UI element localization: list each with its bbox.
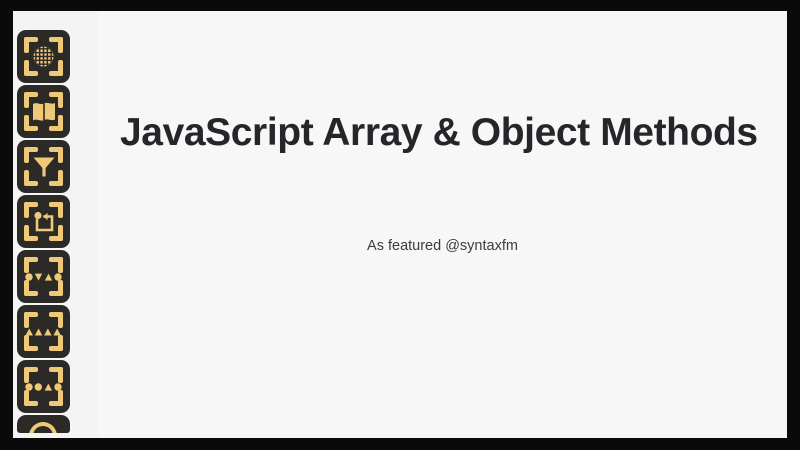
bracket-reduce-loop-icon (17, 195, 70, 248)
sidebar-item-map-grid[interactable] (17, 30, 70, 83)
sidebar-item-map[interactable] (17, 85, 70, 138)
bracket-grid-circle-icon (17, 30, 70, 83)
page-title: JavaScript Array & Object Methods (120, 111, 780, 155)
sidebar-item-sort[interactable] (17, 250, 70, 303)
slide-canvas: JavaScript Array & Object Methods As fea… (13, 11, 787, 438)
slide-frame: JavaScript Array & Object Methods As fea… (0, 0, 800, 450)
sidebar-item-reduce[interactable] (17, 195, 70, 248)
slide-subtitle: As featured @syntaxfm (98, 238, 787, 254)
sidebar-item-every[interactable] (17, 305, 70, 358)
bracket-four-triangles-icon (17, 305, 70, 358)
slide-content: JavaScript Array & Object Methods As fea… (98, 11, 787, 438)
bracket-circles-triangle-icon (17, 360, 70, 413)
sidebar-item-filter[interactable] (17, 140, 70, 193)
sidebar-item-some[interactable] (17, 360, 70, 413)
bracket-sort-mixed-shapes-icon (17, 250, 70, 303)
bracket-flag-map-icon (17, 85, 70, 138)
icon-sidebar[interactable] (13, 11, 98, 438)
bracket-arc-partial-icon (29, 422, 57, 433)
bracket-funnel-filter-icon (17, 140, 70, 193)
sidebar-item-find[interactable] (17, 415, 70, 433)
